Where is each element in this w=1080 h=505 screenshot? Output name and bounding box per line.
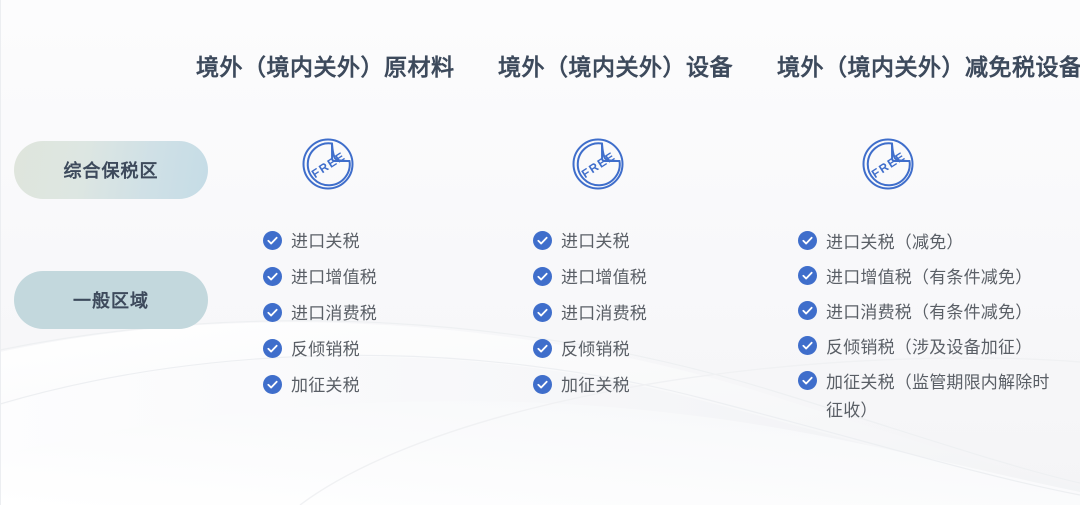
- tax-list-item: 进口关税: [533, 229, 743, 255]
- tax-item-label: 进口消费税（有条件减免）: [826, 299, 1032, 327]
- check-circle-icon: [798, 336, 817, 355]
- tax-list-item: 进口关税（减免）: [798, 229, 1066, 257]
- svg-text:FREE: FREE: [869, 149, 908, 181]
- tax-list-item: 加征关税: [263, 373, 473, 399]
- check-circle-icon: [533, 339, 552, 358]
- tax-item-label: 进口增值税（有条件减免）: [826, 264, 1032, 292]
- tax-list-item: 加征关税: [533, 373, 743, 399]
- check-circle-icon: [798, 301, 817, 320]
- row-label-general-area: 一般区域: [14, 271, 208, 329]
- tax-item-label: 进口关税: [291, 229, 360, 255]
- tax-item-label: 进口增值税: [291, 265, 377, 291]
- check-circle-icon: [798, 231, 817, 250]
- tax-list-item: 进口增值税（有条件减免）: [798, 264, 1066, 292]
- check-circle-icon: [263, 339, 282, 358]
- tax-list-column-1: 进口关税 进口增值税 进口消费税 反倾销税 加征关税: [263, 229, 473, 409]
- check-circle-icon: [263, 267, 282, 286]
- free-stamp-icon: FREE: [859, 134, 919, 199]
- tax-item-label: 反倾销税: [291, 337, 360, 363]
- tax-item-label: 进口消费税: [561, 301, 647, 327]
- infographic-canvas: 境外（境内关外）原材料 境外（境内关外）设备 境外（境内关外）减免税设备 综合保…: [0, 0, 1080, 505]
- column-headers: 境外（境内关外）原材料 境外（境内关外）设备 境外（境内关外）减免税设备: [0, 0, 1080, 110]
- check-circle-icon: [533, 231, 552, 250]
- row-label-comprehensive-bonded-zone: 综合保税区: [14, 141, 208, 199]
- column-header-1: 境外（境内关外）原材料: [196, 48, 455, 82]
- check-circle-icon: [263, 231, 282, 250]
- tax-item-label: 进口关税（减免）: [826, 229, 964, 257]
- tax-list-item: 反倾销税: [263, 337, 473, 363]
- tax-list-item: 反倾销税（涉及设备加征）: [798, 334, 1066, 362]
- tax-item-label: 反倾销税: [561, 337, 630, 363]
- tax-list-item: 进口消费税（有条件减免）: [798, 299, 1066, 327]
- free-stamp-icon: FREE: [569, 134, 629, 199]
- row-label-text: 一般区域: [73, 287, 149, 313]
- check-circle-icon: [263, 303, 282, 322]
- tax-item-label: 进口增值税: [561, 265, 647, 291]
- check-circle-icon: [533, 267, 552, 286]
- row-label-text: 综合保税区: [64, 157, 159, 183]
- svg-text:FREE: FREE: [309, 149, 348, 181]
- free-stamp-icon: FREE: [299, 134, 359, 199]
- tax-item-label: 进口关税: [561, 229, 630, 255]
- tax-list-item: 进口关税: [263, 229, 473, 255]
- svg-text:FREE: FREE: [579, 149, 618, 181]
- column-header-2: 境外（境内关外）设备: [498, 48, 733, 82]
- tax-item-label: 加征关税（监管期限内解除时征收）: [826, 369, 1066, 425]
- column-header-3: 境外（境内关外）减免税设备: [777, 48, 1080, 82]
- check-circle-icon: [533, 375, 552, 394]
- tax-list-column-3: 进口关税（减免） 进口增值税（有条件减免） 进口消费税（有条件减免） 反倾销税（…: [798, 229, 1066, 432]
- tax-list-item: 加征关税（监管期限内解除时征收）: [798, 369, 1066, 425]
- tax-list-item: 进口消费税: [533, 301, 743, 327]
- tax-list-item: 反倾销税: [533, 337, 743, 363]
- tax-item-label: 加征关税: [561, 373, 630, 399]
- tax-item-label: 进口消费税: [291, 301, 377, 327]
- tax-list-item: 进口增值税: [533, 265, 743, 291]
- check-circle-icon: [533, 303, 552, 322]
- tax-item-label: 反倾销税（涉及设备加征）: [826, 334, 1032, 362]
- tax-list-item: 进口消费税: [263, 301, 473, 327]
- tax-item-label: 加征关税: [291, 373, 360, 399]
- tax-list-item: 进口增值税: [263, 265, 473, 291]
- check-circle-icon: [263, 375, 282, 394]
- tax-list-column-2: 进口关税 进口增值税 进口消费税 反倾销税 加征关税: [533, 229, 743, 409]
- check-circle-icon: [798, 266, 817, 285]
- check-circle-icon: [798, 371, 817, 390]
